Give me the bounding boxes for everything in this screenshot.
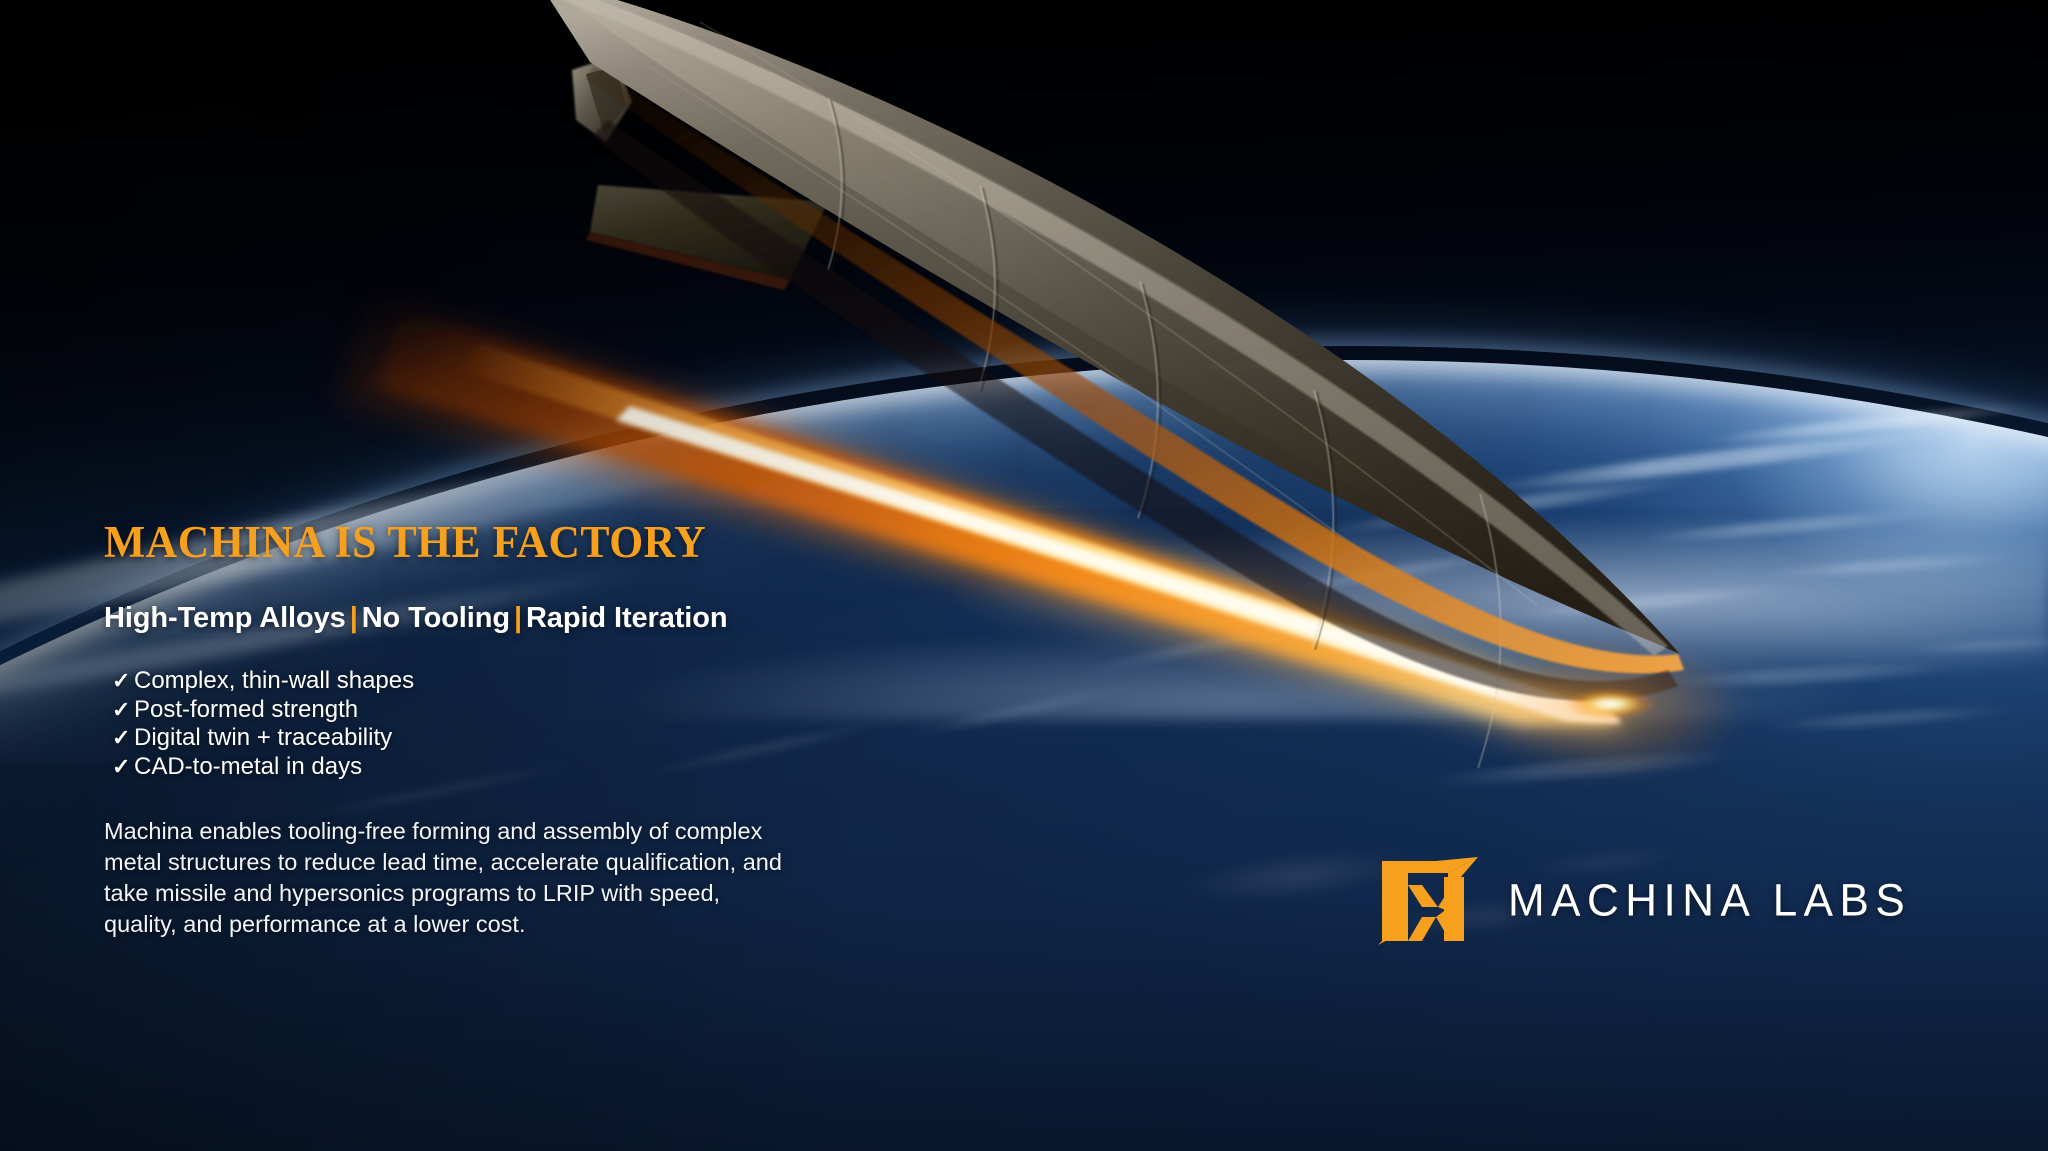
list-item: ✓ CAD-to-metal in days [104, 753, 964, 782]
check-icon: ✓ [112, 725, 134, 751]
machina-labs-wordmark: MACHINA LABS [1508, 875, 1911, 927]
page-title: MACHINA IS THE FACTORY [104, 520, 938, 565]
check-icon: ✓ [112, 754, 134, 780]
list-item-label: Digital twin + traceability [134, 724, 392, 753]
machina-labs-logo: MACHINA LABS [1378, 855, 1911, 947]
subheadline-part-3: Rapid Iteration [526, 602, 728, 634]
list-item: ✓ Digital twin + traceability [104, 724, 964, 753]
list-item-label: Post-formed strength [134, 696, 358, 725]
subheadline-part-2: No Tooling [362, 602, 510, 634]
description-paragraph: Machina enables tooling-free forming and… [104, 816, 794, 940]
machina-labs-monogram-icon [1378, 855, 1482, 947]
hero-slide: MACHINA IS THE FACTORY High-Temp Alloys|… [0, 0, 2048, 1151]
list-item-label: CAD-to-metal in days [134, 753, 362, 782]
check-icon: ✓ [112, 697, 134, 723]
feature-list: ✓ Complex, thin-wall shapes ✓ Post-forme… [104, 667, 964, 782]
subheadline-separator-1: | [346, 602, 362, 634]
subheadline-separator-2: | [510, 602, 526, 634]
subheadline-part-1: High-Temp Alloys [104, 602, 346, 634]
hero-copy-block: MACHINA IS THE FACTORY High-Temp Alloys|… [104, 520, 964, 940]
check-icon: ✓ [112, 668, 134, 694]
subheadline: High-Temp Alloys|No Tooling|Rapid Iterat… [104, 603, 964, 635]
list-item: ✓ Post-formed strength [104, 696, 964, 725]
list-item: ✓ Complex, thin-wall shapes [104, 667, 964, 696]
list-item-label: Complex, thin-wall shapes [134, 667, 414, 696]
